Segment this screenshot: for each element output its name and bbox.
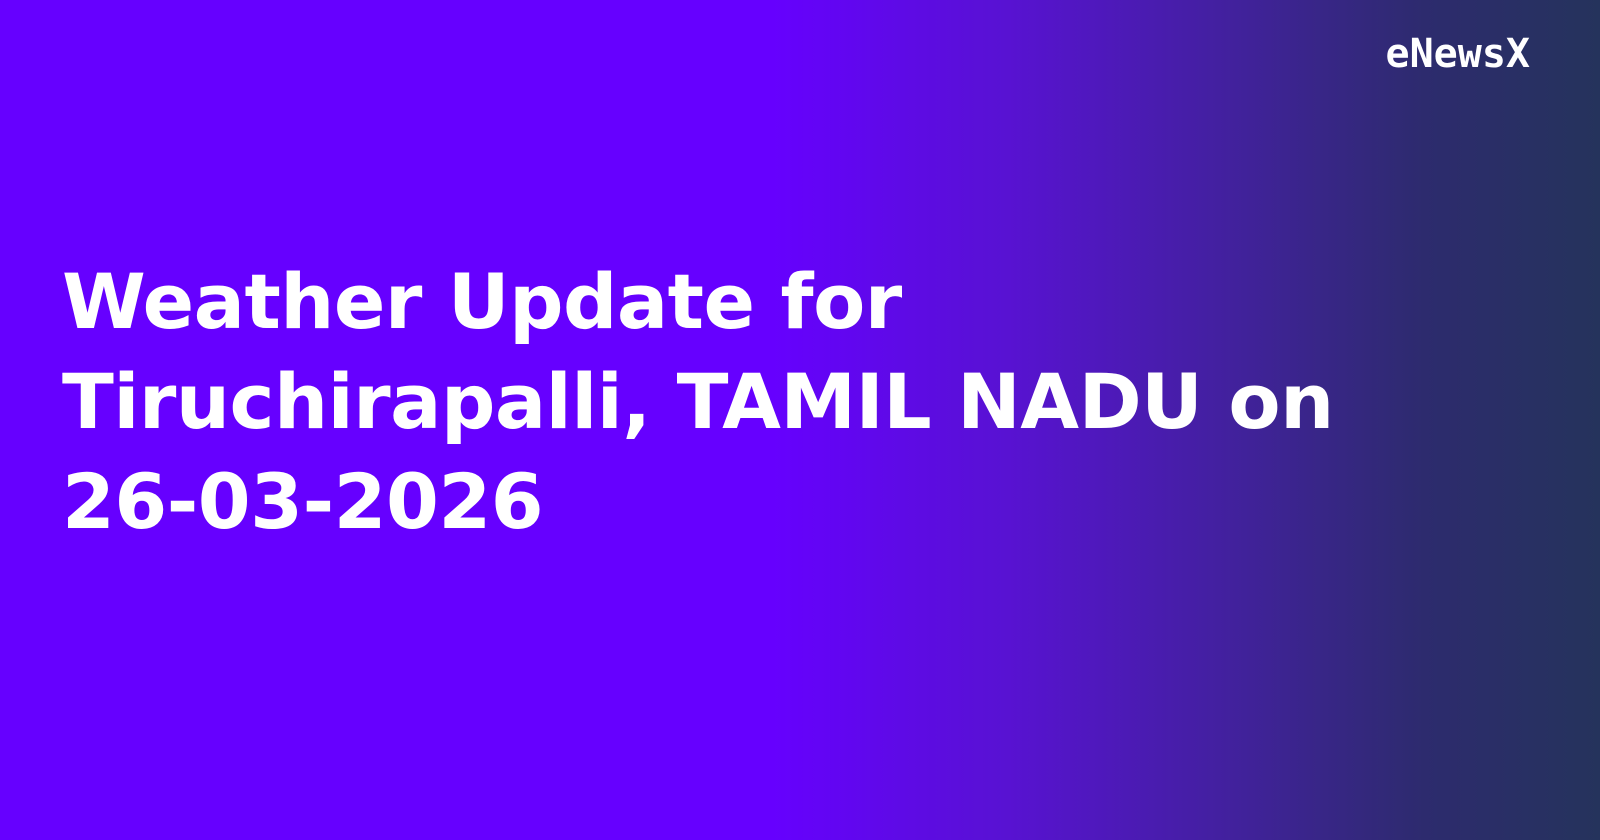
page-title: Weather Update for Tiruchirapalli, TAMIL… <box>62 252 1487 552</box>
news-banner: eNewsX Weather Update for Tiruchirapalli… <box>0 0 1600 840</box>
headline-block: Weather Update for Tiruchirapalli, TAMIL… <box>62 0 1487 840</box>
